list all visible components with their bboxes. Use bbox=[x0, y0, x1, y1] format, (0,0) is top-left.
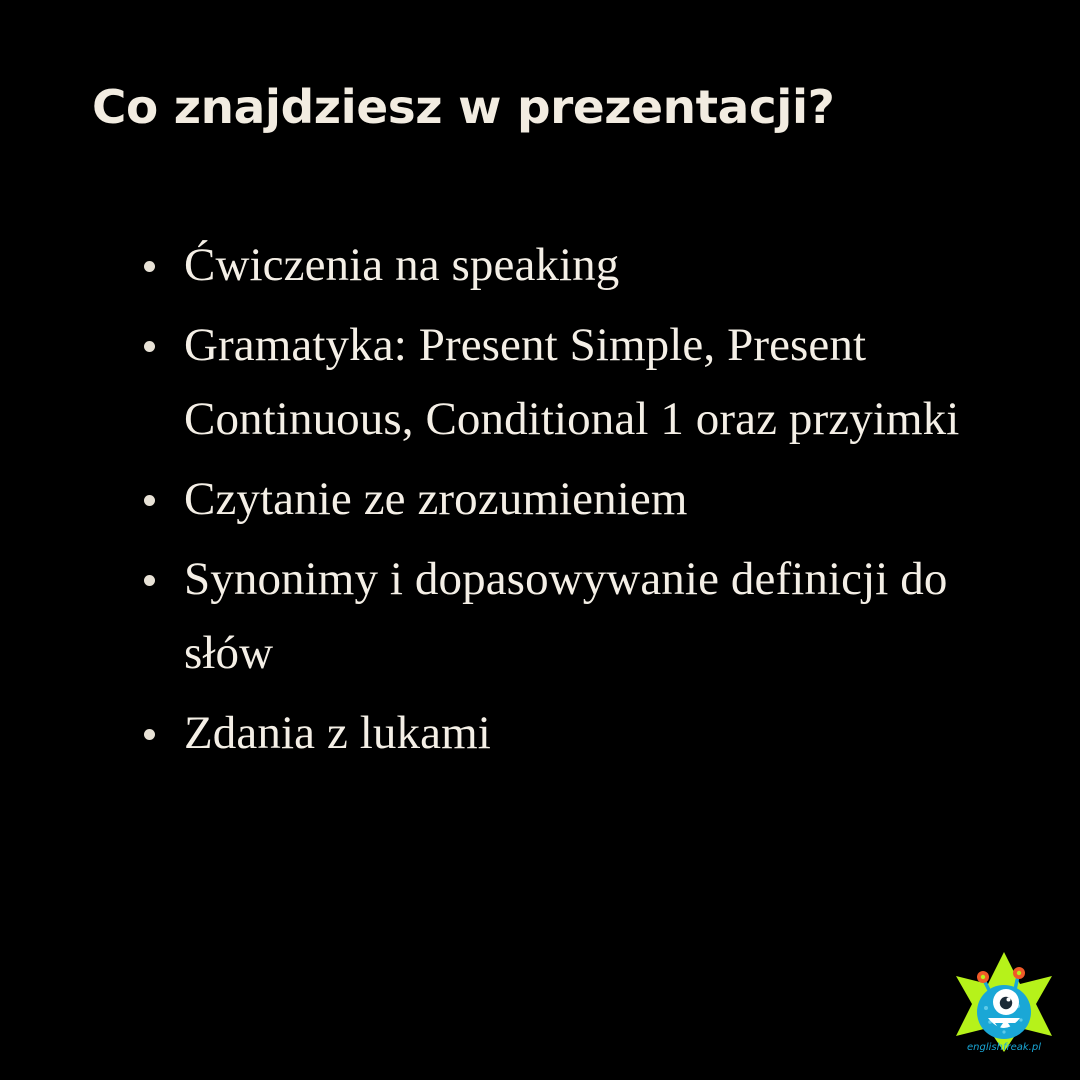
list-item: Zdania z lukami bbox=[140, 696, 1020, 770]
list-item: Ćwiczenia na speaking bbox=[140, 228, 1020, 302]
list-item-label: Czytanie ze zrozumieniem bbox=[184, 462, 1020, 536]
slide-canvas: Co znajdziesz w prezentacji? Ćwiczenia n… bbox=[0, 0, 1080, 1080]
feature-bullet-list: Ćwiczenia na speaking Gramatyka: Present… bbox=[140, 228, 1020, 776]
logo-wordmark: englishfreak.pl bbox=[967, 1042, 1041, 1053]
page-title: Co znajdziesz w prezentacji? bbox=[92, 82, 1010, 134]
bullet-dot-icon bbox=[144, 495, 155, 506]
bullet-dot-icon bbox=[144, 729, 155, 740]
bullet-dot-icon bbox=[144, 341, 155, 352]
list-item-label: Ćwiczenia na speaking bbox=[184, 228, 1020, 302]
englishfreak-logo[interactable]: englishfreak.pl bbox=[948, 946, 1060, 1058]
list-item: Synonimy i dopasowywanie definicji do sł… bbox=[140, 542, 1020, 690]
list-item: Gramatyka: Present Simple, Present Conti… bbox=[140, 308, 1020, 456]
monster-pupil bbox=[1000, 997, 1012, 1009]
list-item-label: Gramatyka: Present Simple, Present Conti… bbox=[184, 308, 1020, 456]
list-item-label: Zdania z lukami bbox=[184, 696, 1020, 770]
bullet-dot-icon bbox=[144, 261, 155, 272]
bullet-dot-icon bbox=[144, 575, 155, 586]
list-item: Czytanie ze zrozumieniem bbox=[140, 462, 1020, 536]
list-item-label: Synonimy i dopasowywanie definicji do sł… bbox=[184, 542, 1020, 690]
